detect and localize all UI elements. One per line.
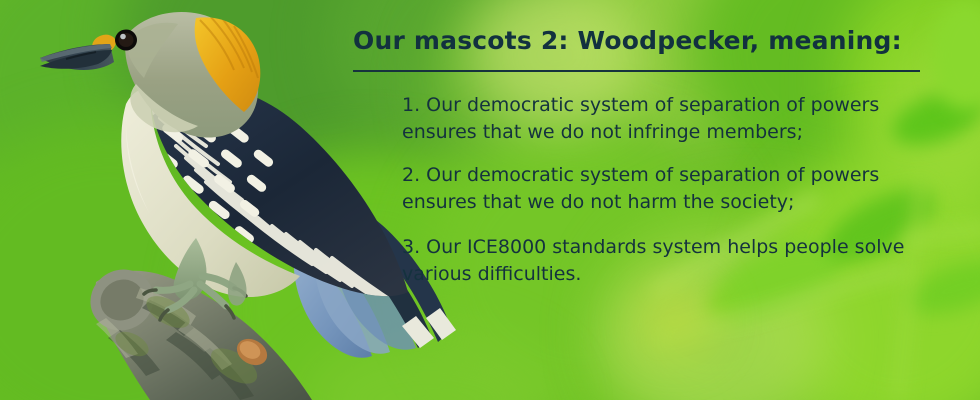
meaning-item-2: 2. Our democratic system of separation o… [402,162,932,216]
meaning-item-1: 1. Our democratic system of separation o… [402,92,932,146]
woodpecker-illustration [0,0,470,400]
page-title: Our mascots 2: Woodpecker, meaning: [353,26,902,55]
mascot-banner: Our mascots 2: Woodpecker, meaning: 1. O… [0,0,980,400]
meaning-item-3: 3. Our ICE8000 standards system helps pe… [402,234,932,288]
bird-head [40,12,260,137]
title-divider [353,70,920,72]
